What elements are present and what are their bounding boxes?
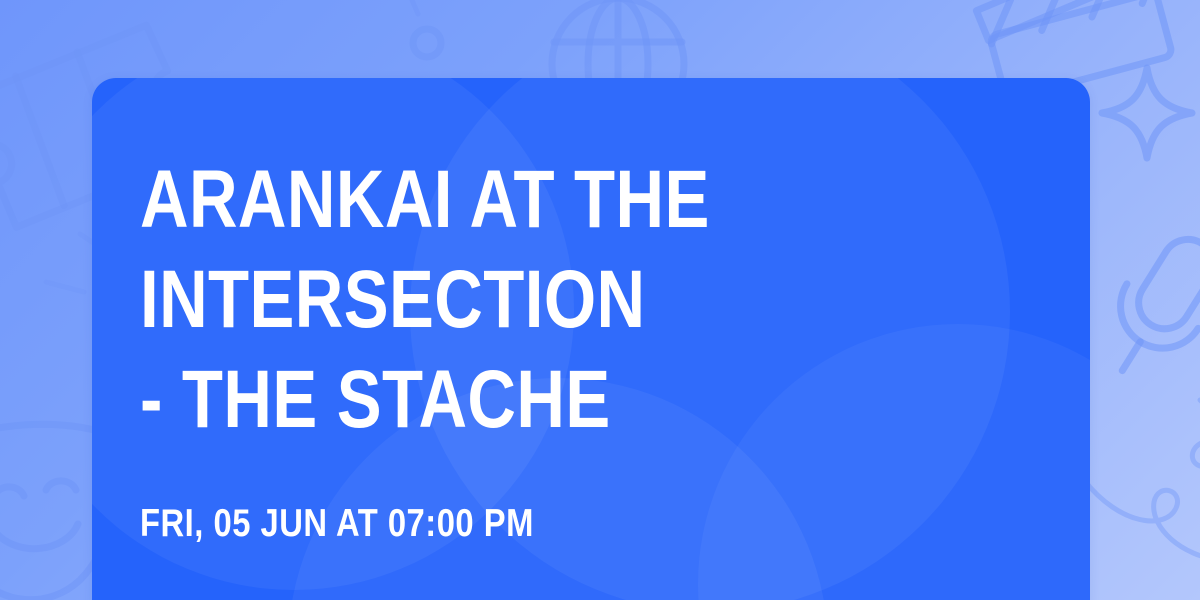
swirl-icon	[1080, 420, 1200, 600]
event-date: Fri, 05 Jun at 07:00 PM	[140, 502, 891, 546]
sparkle-icon	[1092, 58, 1200, 168]
card-content: Arankai at the Intersection - The Stache…	[92, 78, 1090, 546]
confetti-ring-icon	[392, 8, 462, 78]
microphone-icon	[1092, 226, 1200, 406]
event-banner: Arankai at the Intersection - The Stache…	[0, 0, 1200, 600]
event-card[interactable]: Arankai at the Intersection - The Stache…	[92, 78, 1090, 600]
event-title: Arankai at the Intersection - The Stache	[140, 150, 873, 450]
